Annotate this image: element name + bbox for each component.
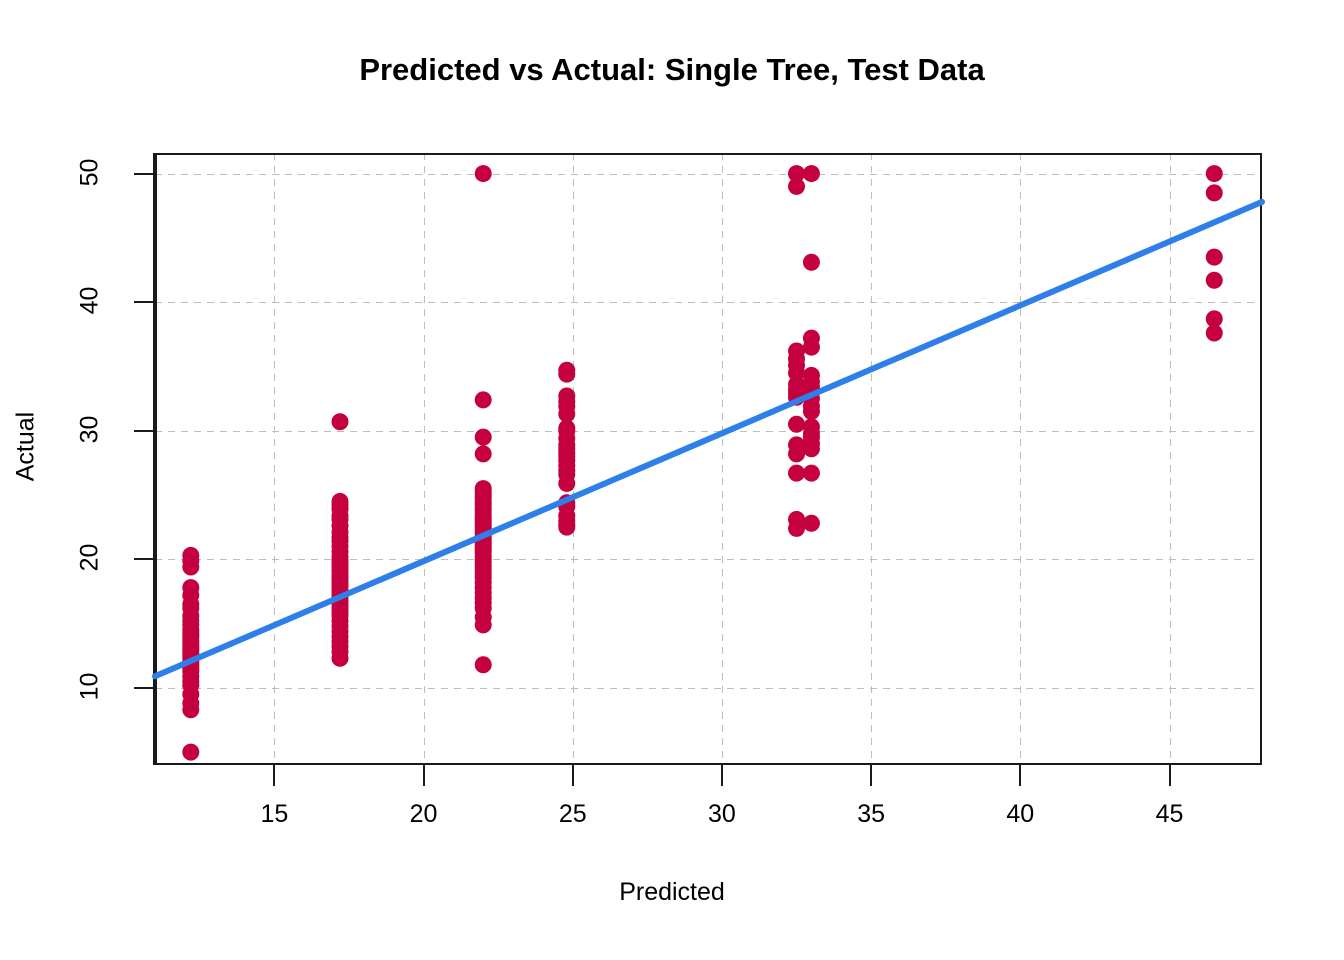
x-axis-label: Predicted — [0, 878, 1344, 907]
chart-title: Predicted vs Actual: Single Tree, Test D… — [0, 52, 1344, 88]
y-tick-label: 50 — [76, 142, 105, 202]
y-axis-label: Actual — [12, 377, 41, 517]
y-tick-mark — [134, 301, 155, 303]
x-tick-label: 20 — [389, 800, 459, 829]
x-tick-label: 35 — [836, 800, 906, 829]
plot-frame — [155, 153, 1262, 765]
x-tick-mark — [870, 765, 872, 786]
x-tick-mark — [721, 765, 723, 786]
y-tick-mark — [134, 558, 155, 560]
y-tick-mark — [134, 687, 155, 689]
x-tick-mark — [1019, 765, 1021, 786]
chart-canvas: Predicted vs Actual: Single Tree, Test D… — [0, 0, 1344, 960]
y-tick-mark — [134, 173, 155, 175]
y-tick-label: 10 — [76, 656, 105, 716]
x-tick-mark — [423, 765, 425, 786]
x-tick-label: 25 — [538, 800, 608, 829]
y-tick-label: 20 — [76, 528, 105, 588]
x-tick-label: 15 — [239, 800, 309, 829]
x-tick-mark — [1169, 765, 1171, 786]
x-tick-label: 40 — [985, 800, 1055, 829]
y-tick-mark — [134, 430, 155, 432]
x-tick-label: 45 — [1135, 800, 1205, 829]
y-tick-label: 30 — [76, 399, 105, 459]
x-tick-mark — [273, 765, 275, 786]
y-tick-label: 40 — [76, 271, 105, 331]
x-tick-mark — [572, 765, 574, 786]
x-tick-label: 30 — [687, 800, 757, 829]
